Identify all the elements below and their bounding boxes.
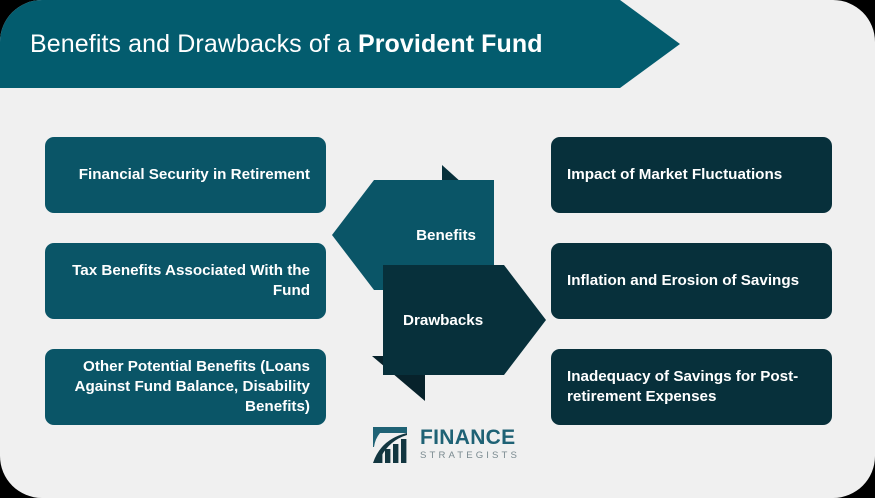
page-title-regular: Benefits and Drawbacks of a	[30, 30, 351, 59]
page-title-bold: Provident Fund	[358, 30, 543, 59]
benefit-item-3-label: Other Potential Benefits (Loans Against …	[61, 357, 310, 418]
drawback-item-3-label: Inadequacy of Savings for Post-retiremen…	[567, 367, 816, 407]
brand-logo-text: FINANCE STRATEGISTS	[420, 427, 520, 461]
drawback-item-2: Inflation and Erosion of Savings	[551, 243, 832, 319]
benefit-item-3: Other Potential Benefits (Loans Against …	[45, 349, 326, 425]
benefit-item-1-label: Financial Security in Retirement	[79, 165, 310, 185]
brand-name-primary: FINANCE	[420, 427, 520, 448]
brand-logo: FINANCE STRATEGISTS	[371, 421, 511, 466]
finance-strategists-bar-chart-icon	[371, 423, 412, 464]
brand-name-secondary: STRATEGISTS	[420, 451, 520, 461]
page-title: Benefits and Drawbacks of a Provident Fu…	[30, 0, 543, 88]
benefit-item-2-label: Tax Benefits Associated With the Fund	[61, 261, 310, 301]
benefits-arrow-label: Benefits	[416, 227, 476, 244]
drawbacks-arrow: Drawbacks	[383, 265, 546, 375]
benefit-item-1: Financial Security in Retirement	[45, 137, 326, 213]
drawback-item-3: Inadequacy of Savings for Post-retiremen…	[551, 349, 832, 425]
drawbacks-arrow-label: Drawbacks	[403, 312, 483, 329]
benefit-item-2: Tax Benefits Associated With the Fund	[45, 243, 326, 319]
center-arrow-group: Benefits Drawbacks	[330, 160, 550, 400]
infographic-card: Benefits and Drawbacks of a Provident Fu…	[0, 0, 875, 498]
drawback-item-1-label: Impact of Market Fluctuations	[567, 165, 782, 185]
drawback-item-2-label: Inflation and Erosion of Savings	[567, 271, 799, 291]
drawback-item-1: Impact of Market Fluctuations	[551, 137, 832, 213]
header-banner: Benefits and Drawbacks of a Provident Fu…	[0, 0, 680, 88]
